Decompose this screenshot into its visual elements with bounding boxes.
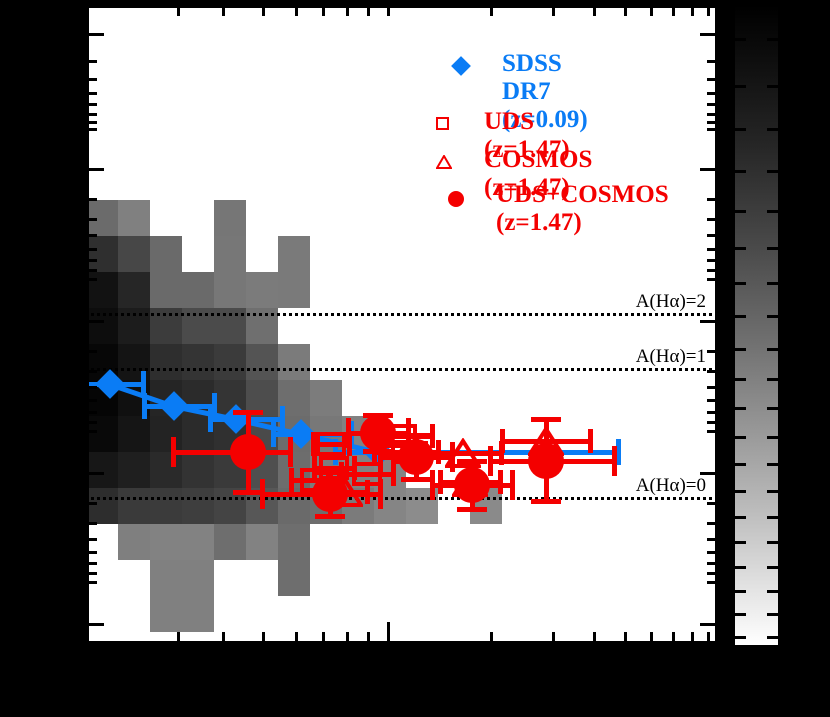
colorbar-tick (767, 315, 778, 318)
x-axis-tick-top (650, 5, 653, 16)
total-yerror-cap (457, 507, 487, 512)
y-axis-tick-right (707, 502, 718, 505)
y-axis-tick (86, 562, 97, 565)
x-axis-tick (624, 632, 627, 644)
colorbar-tick (735, 85, 746, 88)
y-axis-tick (86, 399, 97, 402)
y-axis-tick (86, 386, 97, 389)
total-yerror-cap (401, 477, 431, 482)
y-axis-tick (86, 572, 97, 575)
total-circle-marker (360, 415, 396, 451)
x-axis-tick-top (490, 5, 493, 16)
x-axis-tick-top (624, 5, 627, 16)
x-axis-tick-top (593, 5, 596, 16)
colorbar-tick (735, 378, 746, 381)
colorbar-tick (735, 170, 746, 173)
total-xerror-cap (260, 479, 265, 509)
x-axis-tick (262, 632, 265, 644)
y-axis-tick-right (707, 259, 718, 262)
colorbar-tick (735, 315, 746, 318)
histogram-cell (310, 380, 342, 416)
x-axis-tick-top (346, 5, 349, 16)
y-axis-tick-right (707, 370, 718, 373)
x-axis-tick-top (552, 5, 555, 16)
total-yerror-cap (233, 410, 263, 415)
colorbar-tick (767, 490, 778, 493)
x-axis-tick-top (177, 5, 180, 16)
colorbar-tick (735, 282, 746, 285)
colorbar-tick (767, 516, 778, 519)
total-xerror-cap (346, 418, 351, 448)
colorbar-tick (767, 378, 778, 381)
histogram-cell (278, 272, 310, 308)
colorbar-tick (767, 210, 778, 213)
uds-square-marker (316, 432, 346, 456)
axis-annotation-label: A(Hα)=0 (636, 475, 706, 497)
histogram-cell (150, 488, 182, 524)
colorbar-tick (735, 490, 746, 493)
total-yerror-cap (531, 417, 561, 422)
y-axis-tick (86, 234, 97, 237)
histogram-cell (246, 524, 278, 560)
histogram-cell (246, 272, 278, 308)
total-yerror-cap (233, 490, 263, 495)
uds-xerror-cap (391, 462, 396, 486)
y-axis-tick-right (707, 386, 718, 389)
histogram-cell (278, 560, 310, 596)
histogram-cell (214, 236, 246, 272)
x-axis-tick-top (367, 5, 370, 16)
y-axis-tick (86, 259, 97, 262)
x-axis-tick (490, 632, 493, 644)
y-axis-tick (86, 581, 97, 584)
y-axis-tick (86, 248, 97, 251)
colorbar-tick (767, 566, 778, 569)
cosmos-xerror-cap (438, 470, 443, 494)
axis-annotation-label: A(Hα)=2 (636, 291, 706, 313)
y-axis-tick (86, 92, 97, 95)
y-axis-tick-right (707, 92, 718, 95)
total-xerror-cap (430, 470, 435, 500)
y-axis-tick (86, 421, 97, 424)
y-axis-tick-right (707, 522, 718, 525)
y-axis-tick-right (707, 113, 718, 116)
y-axis-tick-right (700, 472, 718, 475)
colorbar-tick (735, 516, 746, 519)
colorbar-tick (735, 566, 746, 569)
histogram-cell (118, 452, 150, 488)
total-yerror-cap (315, 514, 345, 519)
colorbar-tick (767, 38, 778, 41)
total-circle-marker (454, 467, 490, 503)
y-axis-tick-right (707, 128, 718, 131)
total-circle-marker (398, 439, 434, 475)
histogram-cell (86, 236, 118, 272)
y-axis-tick-right (707, 399, 718, 402)
colorbar-tick (767, 282, 778, 285)
colorbar-tick (767, 436, 778, 439)
colorbar-tick (767, 407, 778, 410)
total-xerror-cap (488, 446, 493, 476)
y-axis-tick-right (700, 320, 718, 323)
histogram-cell (182, 452, 214, 488)
colorbar-tick (767, 247, 778, 250)
reference-line (86, 368, 718, 371)
histogram-cell (214, 344, 246, 380)
legend-circle-icon (448, 191, 464, 207)
histogram-cell (86, 488, 118, 524)
colorbar-tick (735, 463, 746, 466)
total-xerror-cap (450, 442, 455, 472)
colorbar-tick (735, 407, 746, 410)
histogram-cell (118, 272, 150, 308)
histogram-cell (118, 236, 150, 272)
y-axis-tick-right (707, 551, 718, 554)
legend-square-icon (436, 117, 449, 130)
y-axis-tick (86, 33, 104, 36)
legend-triangle-icon (436, 155, 452, 174)
legend-diamond-icon (454, 59, 468, 73)
y-axis-tick (86, 103, 97, 106)
histogram-cell (150, 236, 182, 272)
histogram-cell (278, 236, 310, 272)
histogram-cell (150, 560, 182, 596)
y-axis-tick (86, 60, 97, 63)
y-axis-tick (86, 430, 97, 433)
histogram-cell (150, 344, 182, 380)
colorbar-tick (767, 128, 778, 131)
histogram-cell (246, 344, 278, 380)
y-axis-tick-right (707, 60, 718, 63)
x-axis-tick-top (262, 5, 265, 16)
y-axis-tick-right (707, 234, 718, 237)
y-axis-tick (86, 113, 97, 116)
histogram-cell (182, 272, 214, 308)
sdss-xerror-cap (280, 406, 285, 432)
colorbar-tick (767, 348, 778, 351)
y-axis-tick-right (707, 538, 718, 541)
x-axis-tick (650, 632, 653, 644)
histogram-cell (182, 344, 214, 380)
histogram-cell (150, 452, 182, 488)
reference-line (86, 497, 718, 500)
histogram-cell (86, 452, 118, 488)
x-axis-tick (593, 632, 596, 644)
x-axis-tick-top (322, 5, 325, 16)
histogram-cell (150, 272, 182, 308)
x-axis-tick (387, 622, 390, 644)
y-axis-tick-right (700, 33, 718, 36)
y-axis-tick (86, 411, 97, 414)
y-axis-tick (86, 121, 97, 124)
x-axis-tick-top (295, 5, 298, 16)
x-axis-tick (322, 632, 325, 644)
y-axis-tick-right (700, 623, 718, 626)
histogram-cell (150, 416, 182, 452)
sdss-xerror-cap (86, 371, 89, 397)
colorbar-tick (735, 636, 746, 639)
y-axis-tick-right (707, 430, 718, 433)
x-axis-tick-top (672, 5, 675, 16)
plot-area: A(Hα)=2A(Hα)=1A(Hα)=0 SDSS DR7 (z=0.09)U… (86, 5, 718, 644)
x-axis-tick-top (222, 5, 225, 16)
colorbar-tick (767, 541, 778, 544)
total-circle-marker (312, 476, 348, 512)
colorbar-tick (767, 613, 778, 616)
y-axis-tick-right (707, 562, 718, 565)
y-axis-tick-right (707, 421, 718, 424)
total-yerror-cap (315, 470, 345, 475)
colorbar-tick (767, 463, 778, 466)
histogram-cell (214, 272, 246, 308)
histogram-cell (118, 200, 150, 236)
colorbar-tick (735, 348, 746, 351)
y-axis-tick-right (707, 218, 718, 221)
sdss-xerror-cap (271, 421, 276, 447)
total-xerror-cap (612, 446, 617, 476)
uds-xerror-cap (289, 468, 294, 492)
colorbar-tick (735, 436, 746, 439)
histogram-cell (182, 236, 214, 272)
histogram-cell (118, 416, 150, 452)
figure-root: A(Hα)=2A(Hα)=1A(Hα)=0 SDSS DR7 (z=0.09)U… (0, 0, 830, 717)
y-axis-tick-right (707, 78, 718, 81)
cosmos-xerror-cap (500, 429, 505, 453)
histogram-cell (214, 200, 246, 236)
total-xerror-cap (171, 437, 176, 467)
y-axis-tick (86, 623, 104, 626)
y-axis-tick (86, 370, 97, 373)
histogram-cell (118, 524, 150, 560)
y-axis-tick-right (707, 121, 718, 124)
colorbar (735, 5, 778, 645)
y-axis-tick (86, 78, 97, 81)
x-axis-tick-top (387, 5, 390, 16)
colorbar-tick (767, 636, 778, 639)
y-axis-tick (86, 198, 97, 201)
x-axis-tick-top (707, 5, 710, 16)
x-axis-tick-top (691, 5, 694, 16)
y-axis-tick-right (707, 278, 718, 281)
y-axis-tick (86, 168, 104, 171)
x-axis-tick (552, 632, 555, 644)
colorbar-tick (735, 590, 746, 593)
total-yerror-cap (531, 499, 561, 504)
y-axis-tick (86, 538, 97, 541)
y-axis-tick (86, 350, 97, 353)
total-xerror-cap (510, 470, 515, 500)
colorbar-tick (735, 210, 746, 213)
cosmos-xerror-cap (498, 470, 503, 494)
y-axis-tick-right (707, 248, 718, 251)
histogram-cell (278, 344, 310, 380)
y-axis-tick (86, 218, 97, 221)
colorbar-tick (767, 85, 778, 88)
y-axis-tick-right (707, 269, 718, 272)
x-axis-tick (222, 632, 225, 644)
x-axis-tick (295, 632, 298, 644)
axis-annotation-label: A(Hα)=1 (636, 346, 706, 368)
x-axis-tick (691, 632, 694, 644)
colorbar-tick (735, 38, 746, 41)
histogram-cell (118, 488, 150, 524)
total-xerror-cap (378, 479, 383, 509)
y-axis-tick (86, 502, 97, 505)
histogram-cell (182, 560, 214, 596)
total-xerror-cap (288, 437, 293, 467)
colorbar-tick (735, 541, 746, 544)
y-axis-tick (86, 472, 104, 475)
y-axis-tick (86, 522, 97, 525)
y-axis-tick-right (700, 168, 718, 171)
x-axis-tick (672, 632, 675, 644)
sdss-xerror-cap (142, 393, 147, 419)
y-axis-tick-right (707, 350, 718, 353)
y-axis-tick-right (707, 581, 718, 584)
histogram-cell (182, 596, 214, 632)
histogram-cell (214, 524, 246, 560)
sdss-xerror-cap (208, 406, 213, 432)
histogram-cell (150, 596, 182, 632)
cosmos-xerror-cap (588, 429, 593, 453)
histogram-cell (182, 524, 214, 560)
colorbar-tick (735, 247, 746, 250)
total-yerror-cap (401, 433, 431, 438)
y-axis-tick-right (707, 103, 718, 106)
y-axis-tick (86, 269, 97, 272)
y-axis-tick-right (707, 572, 718, 575)
x-axis-tick (367, 632, 370, 644)
x-axis-tick (177, 632, 180, 644)
histogram-cell (278, 524, 310, 560)
reference-line (86, 313, 718, 316)
y-axis-tick-right (707, 198, 718, 201)
y-axis-tick (86, 320, 104, 323)
x-axis-tick (346, 632, 349, 644)
y-axis-tick (86, 278, 97, 281)
colorbar-tick (735, 613, 746, 616)
colorbar-tick (735, 128, 746, 131)
total-yerror-cap (457, 459, 487, 464)
total-circle-marker (230, 434, 266, 470)
total-circle-marker (528, 443, 564, 479)
colorbar-tick (767, 590, 778, 593)
y-axis-tick-right (707, 411, 718, 414)
histogram-cell (182, 488, 214, 524)
colorbar-tick (767, 170, 778, 173)
y-axis-tick (86, 128, 97, 131)
x-axis-tick (707, 632, 710, 644)
legend-label: UDS+COSMOS (z=1.47) (496, 181, 669, 237)
y-axis-tick (86, 551, 97, 554)
histogram-cell (150, 524, 182, 560)
